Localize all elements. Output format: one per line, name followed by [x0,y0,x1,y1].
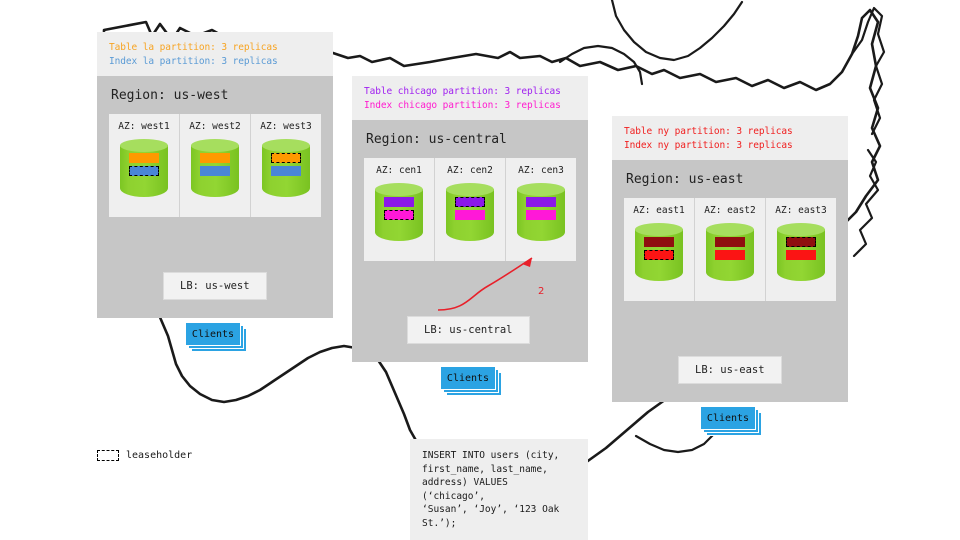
cylinder-top [517,183,565,196]
partition-line-table: Table chicago partition: 3 replicas [364,85,576,99]
partition-header-us-central: Table chicago partition: 3 replicas Inde… [352,76,588,120]
region-title: Region: us-west [109,76,321,114]
table-replica-bar [715,237,745,247]
clients-button[interactable]: Clients [700,406,756,430]
table-replica-bar-leaseholder [271,153,301,163]
replica-bars [262,153,310,176]
db-node-cylinder[interactable] [706,223,754,287]
legend: leaseholder [97,450,192,461]
partition-line-table: Table la partition: 3 replicas [109,41,321,55]
az-cell-west1[interactable]: AZ: west1 [109,114,179,217]
clients-us-west[interactable]: Clients [185,322,247,350]
index-replica-bar-leaseholder [384,210,414,220]
routing-arrow-label: 2 [538,286,544,297]
region-title: Region: us-central [364,120,576,158]
replica-bars [706,237,754,260]
replica-bars [191,153,239,176]
load-balancer-us-central[interactable]: LB: us-central [407,316,530,344]
clients-button[interactable]: Clients [185,322,241,346]
partition-header-us-east: Table ny partition: 3 replicas Index ny … [612,116,848,160]
index-replica-bar [526,210,556,220]
az-label: AZ: west2 [180,121,250,132]
az-cell-cen2[interactable]: AZ: cen2 [434,158,505,261]
partition-line-table: Table ny partition: 3 replicas [624,125,836,139]
az-label: AZ: west1 [109,121,179,132]
az-strip-us-east: AZ: east1 AZ: east2 [624,198,836,301]
cylinder-top [446,183,494,196]
az-label: AZ: east2 [695,205,765,216]
az-cell-cen3[interactable]: AZ: cen3 [505,158,576,261]
clients-button[interactable]: Clients [440,366,496,390]
az-cell-east1[interactable]: AZ: east1 [624,198,694,301]
db-node-cylinder[interactable] [191,139,239,203]
table-replica-bar [200,153,230,163]
table-replica-bar [644,237,674,247]
replica-bars [777,237,825,260]
az-cell-west2[interactable]: AZ: west2 [179,114,250,217]
db-node-cylinder[interactable] [262,139,310,203]
az-label: AZ: cen3 [506,165,576,176]
region-body-us-west: Region: us-west AZ: west1 AZ: west2 [97,76,333,318]
db-node-cylinder[interactable] [517,183,565,247]
replica-bars [517,197,565,220]
partition-line-index: Index la partition: 3 replicas [109,55,321,69]
db-node-cylinder[interactable] [446,183,494,247]
replica-bars [120,153,168,176]
az-strip-us-central: AZ: cen1 AZ: cen2 [364,158,576,261]
az-cell-west3[interactable]: AZ: west3 [250,114,321,217]
db-node-cylinder[interactable] [120,139,168,203]
partition-line-index: Index ny partition: 3 replicas [624,139,836,153]
region-title: Region: us-east [624,160,836,198]
az-cell-cen1[interactable]: AZ: cen1 [364,158,434,261]
db-node-cylinder[interactable] [375,183,423,247]
clients-us-east[interactable]: Clients [700,406,762,434]
db-node-cylinder[interactable] [635,223,683,287]
load-balancer-us-west[interactable]: LB: us-west [163,272,267,300]
index-replica-bar-leaseholder [129,166,159,176]
index-replica-bar-leaseholder [644,250,674,260]
leaseholder-swatch-icon [97,450,119,461]
region-panel-us-east: Table ny partition: 3 replicas Index ny … [612,116,848,402]
cylinder-top [262,139,310,152]
az-label: AZ: east3 [766,205,836,216]
table-replica-bar-leaseholder [786,237,816,247]
sql-statement-callout: INSERT INTO users (city, first_name, las… [410,439,588,540]
table-replica-bar [526,197,556,207]
index-replica-bar [786,250,816,260]
table-replica-bar-leaseholder [455,197,485,207]
region-body-us-central: Region: us-central AZ: cen1 AZ: cen2 [352,120,588,362]
cylinder-top [777,223,825,236]
index-replica-bar [715,250,745,260]
cylinder-top [191,139,239,152]
table-replica-bar [384,197,414,207]
az-cell-east3[interactable]: AZ: east3 [765,198,836,301]
legend-label: leaseholder [126,450,192,461]
az-strip-us-west: AZ: west1 AZ: west2 [109,114,321,217]
az-label: AZ: east1 [624,205,694,216]
cylinder-top [706,223,754,236]
az-cell-east2[interactable]: AZ: east2 [694,198,765,301]
replica-bars [635,237,683,260]
partition-line-index: Index chicago partition: 3 replicas [364,99,576,113]
index-replica-bar [200,166,230,176]
replica-bars [446,197,494,220]
db-node-cylinder[interactable] [777,223,825,287]
region-body-us-east: Region: us-east AZ: east1 AZ: east2 [612,160,848,402]
partition-header-us-west: Table la partition: 3 replicas Index la … [97,32,333,76]
az-label: AZ: west3 [251,121,321,132]
az-label: AZ: cen2 [435,165,505,176]
index-replica-bar [271,166,301,176]
clients-us-central[interactable]: Clients [440,366,502,394]
cylinder-top [375,183,423,196]
load-balancer-us-east[interactable]: LB: us-east [678,356,782,384]
region-panel-us-west: Table la partition: 3 replicas Index la … [97,32,333,318]
table-replica-bar [129,153,159,163]
index-replica-bar [455,210,485,220]
replica-bars [375,197,423,220]
az-label: AZ: cen1 [364,165,434,176]
cylinder-top [120,139,168,152]
cylinder-top [635,223,683,236]
diagram-canvas: Table la partition: 3 replicas Index la … [0,0,960,540]
region-panel-us-central: Table chicago partition: 3 replicas Inde… [352,76,588,362]
